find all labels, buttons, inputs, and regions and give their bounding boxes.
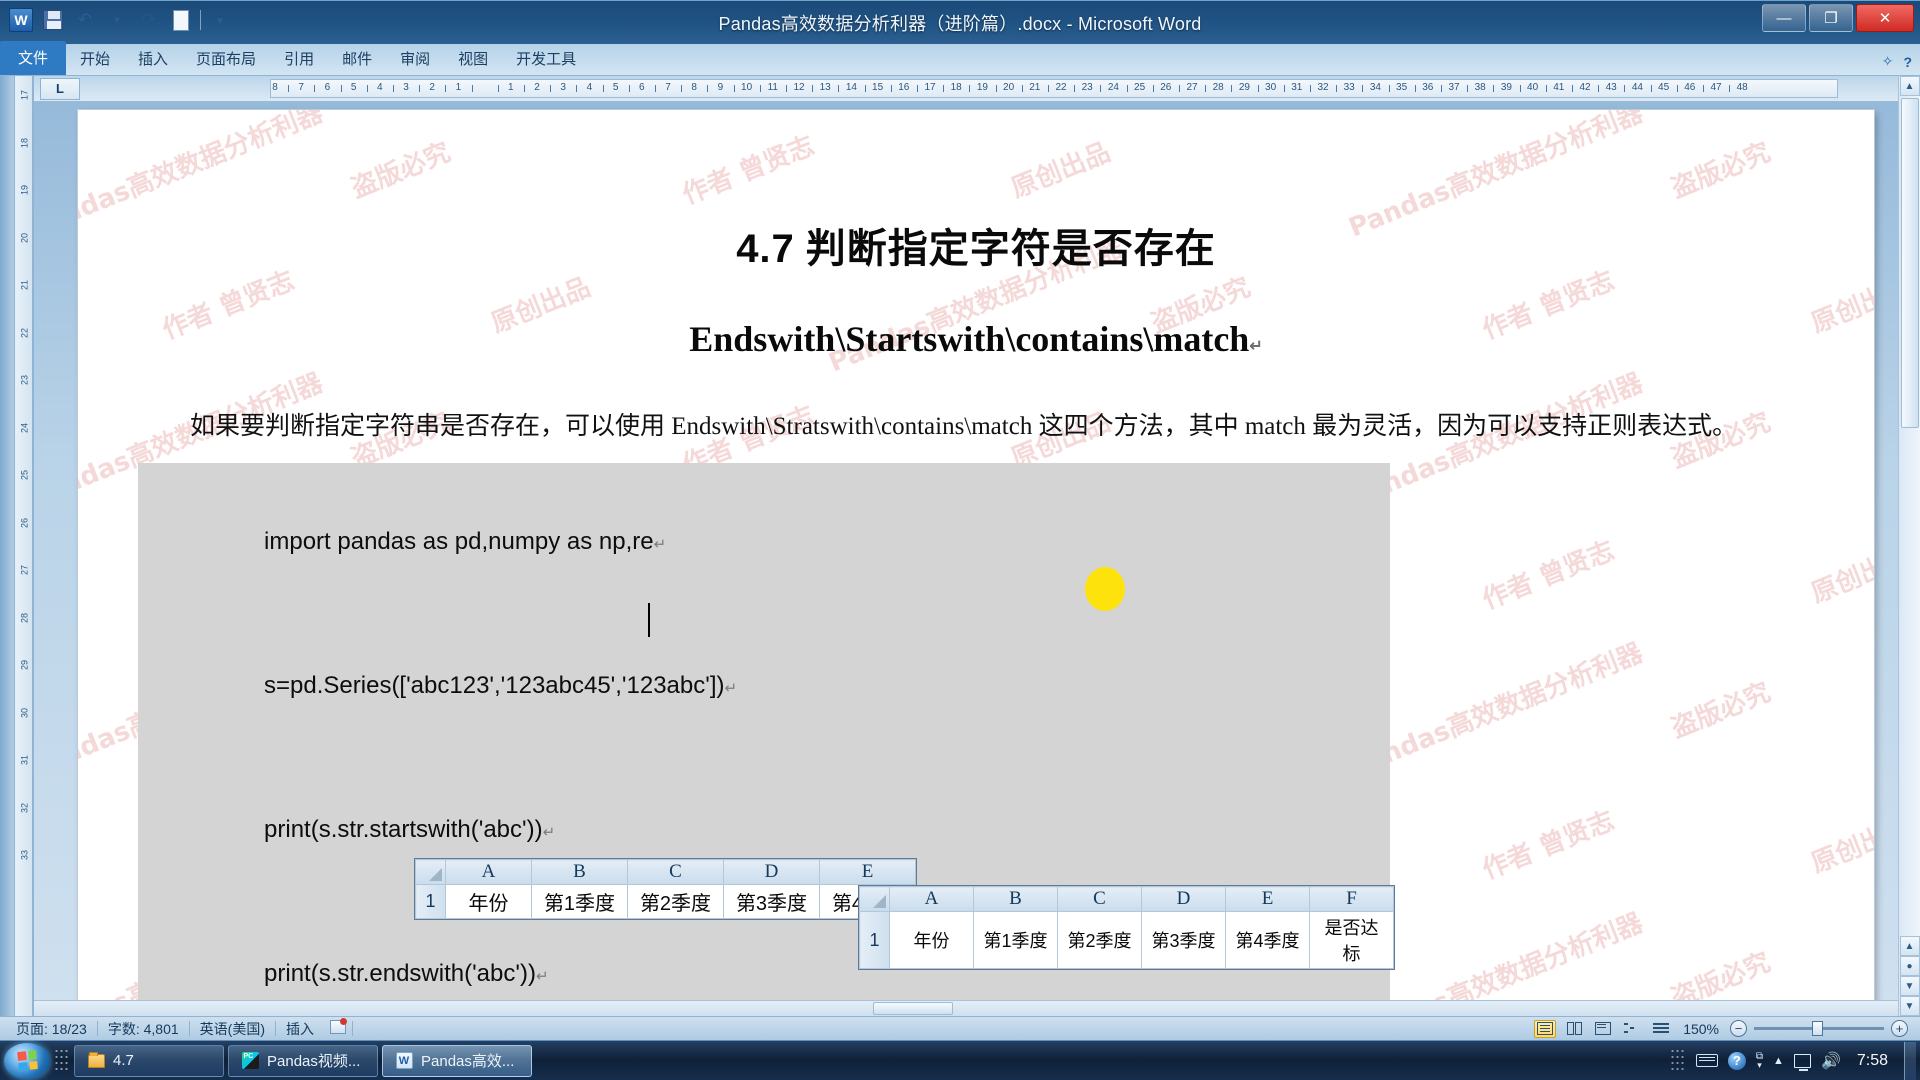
ruler-tick [288, 85, 289, 92]
cell-a1[interactable]: 年份 [890, 912, 974, 969]
cell-a1[interactable]: 年份 [446, 885, 532, 919]
ruler-tick-label: 27 [1186, 82, 1197, 93]
ruler-tick [996, 85, 997, 92]
table-row: 1 年份 第1季度 第2季度 第3季度 第4季度 [416, 885, 916, 919]
ruler-tick-label: 3 [560, 82, 566, 93]
tab-review[interactable]: 审阅 [386, 43, 444, 75]
volume-icon[interactable]: 🔊 [1821, 1051, 1841, 1071]
ruler-tick [812, 85, 813, 92]
help-icon[interactable]: ? [1728, 1052, 1746, 1070]
pilcrow-icon: ↵ [536, 968, 549, 985]
ruler-tick [367, 85, 368, 92]
horizontal-scrollbar[interactable] [34, 1000, 1898, 1016]
ruler-tick-label: 12 [793, 82, 804, 93]
ruler-tick [1231, 85, 1232, 92]
ribbon-tab-bar: 文件 开始 插入 页面布局 引用 邮件 审阅 视图 开发工具 ✧ ? [0, 44, 1920, 76]
ruler-tick [603, 85, 604, 92]
ruler-tick-label: 3 [403, 82, 409, 93]
ruler-tick-label: 6 [639, 82, 645, 93]
scroll-down-icon[interactable]: ▼ [1900, 996, 1920, 1016]
highlight-cursor-dot [1085, 567, 1125, 611]
title-bar: W ↶ ▾ ↷ ▾ Pandas高效数据分析利器（进阶篇）.docx - Mic… [0, 0, 1920, 44]
cell-c1[interactable]: 第2季度 [628, 885, 724, 919]
ruler-tick [1415, 85, 1416, 92]
ruler-tick-label: 4 [377, 82, 383, 93]
system-tray: ? ⧉ ▾ ▲ 🔊 7:58 [1670, 1041, 1920, 1080]
vertical-scrollbar[interactable]: ▲ ▲ ● ▼ ▼ [1898, 76, 1920, 1016]
ruler-tick-label: 32 [1317, 82, 1328, 93]
col-header-a[interactable]: A [890, 887, 974, 912]
table-header-row: A B C D E F [860, 887, 1394, 912]
cell-d1[interactable]: 第3季度 [724, 885, 820, 919]
customize-qat-icon[interactable]: ▾ [207, 7, 233, 33]
previous-page-icon[interactable]: ▲ [1900, 936, 1920, 956]
ruler-tick [472, 85, 473, 92]
ruler-tick-label: 14 [846, 82, 857, 93]
ribbon-right-controls: ✧ ? [1882, 53, 1912, 70]
ruler-tick-label: 42 [1579, 82, 1590, 93]
windows-logo-icon [17, 1050, 38, 1071]
word-logo-glyph: W [9, 8, 33, 32]
ruler-tick-label: 45 [1658, 82, 1669, 93]
horizontal-ruler-strip: 8765432112345678910111213141516171819202… [270, 79, 1838, 98]
keyboard-icon[interactable] [1696, 1054, 1718, 1067]
ruler-tick-label: 38 [1475, 82, 1486, 93]
work-area: 1718192021222324252627282930313233 L 876… [0, 76, 1920, 1016]
heading-text: 判断指定字符是否存在 [806, 226, 1216, 271]
folder-icon [87, 1052, 105, 1070]
ruler-tick-label: 46 [1684, 82, 1695, 93]
ruler-tick [1651, 85, 1652, 92]
word-logo-icon[interactable]: W [8, 7, 34, 33]
restore-button[interactable]: ❐ [1809, 4, 1853, 32]
ruler-tick-label: 27 [20, 561, 30, 580]
qat-divider [200, 10, 201, 30]
ruler-tick-label: 29 [20, 656, 30, 675]
ruler-tick-label: 44 [1632, 82, 1643, 93]
ruler-tick-label: 20 [20, 228, 30, 247]
subheading: Endswith\Startswith\contains\match↵ [138, 318, 1814, 360]
zoom-slider-thumb[interactable] [1812, 1021, 1823, 1036]
ruler-tick-label: 31 [20, 751, 30, 770]
table-header-row: A B C D E [416, 860, 916, 885]
ruler-tick [1389, 85, 1390, 92]
ruler-tick-label: 26 [1160, 82, 1171, 93]
ruler-tick-label: 33 [20, 846, 30, 865]
ruler-tick [1362, 85, 1363, 92]
ruler-tick-label: 24 [20, 418, 30, 437]
zoom-out-button[interactable]: − [1730, 1020, 1747, 1037]
cell-b1[interactable]: 第1季度 [974, 912, 1058, 969]
col-header-d[interactable]: D [724, 860, 820, 885]
ruler-tick [1179, 85, 1180, 92]
ruler-tick [1729, 85, 1730, 92]
col-header-e[interactable]: E [820, 860, 916, 885]
cell-b1[interactable]: 第1季度 [532, 885, 628, 919]
undo-icon[interactable]: ↶ [72, 7, 98, 33]
document-page[interactable]: Pandas高效数据分析利器盗版必究作者 曾贤志原创出品Pandas高效数据分析… [78, 110, 1874, 1000]
ruler-tick-label: 28 [20, 608, 30, 627]
ruler-tick-label: 5 [351, 82, 357, 93]
ruler-tick-label: 33 [1344, 82, 1355, 93]
ruler-tick [734, 85, 735, 92]
ruler-tick-label: 4 [587, 82, 593, 93]
ruler-tick [1205, 85, 1206, 92]
view-outline-icon[interactable] [1621, 1020, 1643, 1038]
ruler-tick [1258, 85, 1259, 92]
ruler-tick [1310, 85, 1311, 92]
word-count[interactable]: 字数: 4,801 [98, 1019, 189, 1039]
ruler-tick [393, 85, 394, 92]
row-header-1[interactable]: 1 [860, 912, 890, 969]
undo-dropdown-icon[interactable]: ▾ [104, 7, 130, 33]
ruler-tick [681, 85, 682, 92]
zoom-in-button[interactable]: + [1891, 1020, 1908, 1037]
ruler-tick-label: 36 [1422, 82, 1433, 93]
col-header-f[interactable]: F [1310, 887, 1394, 912]
ruler-tick-label: 6 [325, 82, 331, 93]
ruler-tick-label: 34 [1370, 82, 1381, 93]
ruler-tick [1598, 85, 1599, 92]
code-line: s=pd.Series(['abc123','123abc45','123abc… [144, 615, 1390, 759]
ruler-tick [1048, 85, 1049, 92]
cell-d1[interactable]: 第3季度 [1142, 912, 1226, 969]
pilcrow-icon: ↵ [543, 824, 556, 841]
ruler-tick [865, 85, 866, 92]
ruler-tick-label: 31 [1291, 82, 1302, 93]
status-bar: 页面: 18/23 字数: 4,801 英语(美国) 插入 [0, 1016, 1920, 1040]
ruler-tick-label: 1 [456, 82, 462, 93]
start-button[interactable] [4, 1043, 50, 1079]
ruler-tick [1074, 85, 1075, 92]
vertical-scroll-thumb[interactable] [1901, 98, 1919, 428]
ruler-tick [1284, 85, 1285, 92]
ruler-tick-label: 21 [20, 276, 30, 295]
ruler-tick-label: 24 [1108, 82, 1119, 93]
tray-grip[interactable] [1670, 1048, 1686, 1074]
ruler-tick [943, 85, 944, 92]
ruler-tick-label: 17 [924, 82, 935, 93]
new-document-icon[interactable] [168, 7, 194, 33]
tab-file[interactable]: 文件 [0, 41, 66, 75]
ruler-tick [419, 85, 420, 92]
table-left: A B C D E 1 年份 [415, 859, 916, 919]
ruler-tick-label: 9 [718, 82, 724, 93]
view-full-screen-reading-icon[interactable] [1563, 1020, 1585, 1038]
ruler-tick-label: 23 [1082, 82, 1093, 93]
close-button[interactable]: ✕ [1856, 4, 1914, 32]
ruler-tick-label: 35 [1396, 82, 1407, 93]
ruler-tick-label: 5 [613, 82, 619, 93]
ruler-tick-label: 8 [691, 82, 697, 93]
col-header-d[interactable]: D [1142, 887, 1226, 912]
spreadsheet-image-left[interactable]: A B C D E 1 年份 [414, 858, 917, 920]
vertical-ruler-strip: 1718192021222324252627282930313233 [14, 76, 33, 1016]
quick-access-toolbar: W ↶ ▾ ↷ ▾ [8, 7, 233, 33]
overflow-up-icon[interactable]: ▲ [1773, 1055, 1784, 1067]
page-indicator[interactable]: 页面: 18/23 [6, 1019, 97, 1039]
status-divider [352, 1021, 353, 1036]
ruler-tick [576, 85, 577, 92]
tab-mailings[interactable]: 邮件 [328, 43, 386, 75]
ruler-tick [1441, 85, 1442, 92]
col-header-c[interactable]: C [1058, 887, 1142, 912]
vertical-ruler[interactable]: 1718192021222324252627282930313233 [0, 76, 34, 1016]
ruler-tick [655, 85, 656, 92]
word-icon: W [395, 1052, 413, 1070]
ruler-tick-label: 22 [1055, 82, 1066, 93]
ruler-tick [1467, 85, 1468, 92]
help-icon[interactable]: ? [1903, 54, 1912, 70]
ruler-tick [1677, 85, 1678, 92]
ruler-tick-label: 18 [951, 82, 962, 93]
ruler-tick-label: 41 [1553, 82, 1564, 93]
overflow-down-icon[interactable]: ▾ [1757, 1061, 1762, 1070]
taskbar-item-label: 4.7 [113, 1052, 134, 1069]
ruler-tick [445, 85, 446, 92]
ruler-tick [341, 85, 342, 92]
tab-home[interactable]: 开始 [66, 43, 124, 75]
paragraph-mark: ↵ [1249, 338, 1262, 355]
ruler-tick-label: 26 [20, 513, 30, 532]
code-text: s=pd.Series(['abc123','123abc45','123abc… [264, 672, 724, 699]
ruler-tick [498, 85, 499, 92]
taskbar-item-folder[interactable]: 4.7 [74, 1045, 224, 1077]
subheading-text: Endswith\Startswith\contains\match [689, 319, 1249, 359]
ruler-tick [550, 85, 551, 92]
col-header-a[interactable]: A [446, 860, 532, 885]
tab-view[interactable]: 视图 [444, 43, 502, 75]
ruler-tick [1336, 85, 1337, 92]
ruler-tick-label: 10 [741, 82, 752, 93]
ruler-tick-label: 30 [20, 703, 30, 722]
col-header-b[interactable]: B [532, 860, 628, 885]
ruler-tick-label: 19 [977, 82, 988, 93]
ruler-tick-label: 23 [20, 371, 30, 390]
ruler-tick-label: 21 [1029, 82, 1040, 93]
pilcrow-icon: ↵ [725, 680, 738, 697]
spreadsheet-image-right[interactable]: A B C D E F 1 [858, 885, 1395, 970]
horizontal-ruler[interactable]: L 87654321123456789101112131415161718192… [34, 76, 1898, 102]
code-text: print(s.str.endswith('abc')) [264, 960, 536, 987]
pilcrow-icon: ↵ [654, 536, 667, 553]
tab-insert[interactable]: 插入 [124, 43, 182, 75]
ruler-tick [1153, 85, 1154, 92]
ruler-tick [707, 85, 708, 92]
clock[interactable]: 7:58 [1851, 1052, 1894, 1070]
document-content: 4.7 判断指定字符是否存在 Endswith\Startswith\conta… [138, 216, 1814, 1000]
document-canvas[interactable]: Pandas高效数据分析利器盗版必究作者 曾贤志原创出品Pandas高效数据分析… [34, 102, 1898, 1000]
ruler-tick-label: 22 [20, 323, 30, 342]
zoom-slider[interactable] [1754, 1027, 1884, 1030]
ruler-tick [891, 85, 892, 92]
status-right-group: 150% − + [1534, 1020, 1914, 1038]
ruler-tick [838, 85, 839, 92]
taskbar-item-label: Pandas视频... [267, 1050, 360, 1071]
text-caret [648, 603, 650, 637]
ruler-tick-label: 7 [298, 82, 304, 93]
ruler-tick [760, 85, 761, 92]
row-header-1[interactable]: 1 [416, 885, 446, 919]
ruler-tick-label: 7 [665, 82, 671, 93]
code-text: import pandas as pd,numpy as np,re [264, 528, 654, 555]
col-header-c[interactable]: C [628, 860, 724, 885]
ruler-tick-label: 19 [20, 181, 30, 200]
ruler-tick-label: 18 [20, 133, 30, 152]
ruler-tick [1624, 85, 1625, 92]
language-indicator[interactable]: 英语(美国) [190, 1019, 275, 1039]
ruler-tick [629, 85, 630, 92]
document-column: L 87654321123456789101112131415161718192… [34, 76, 1898, 1016]
ruler-tick-label: 48 [1737, 82, 1748, 93]
taskbar-item-pycharm[interactable]: Pandas视频... [228, 1045, 378, 1077]
ruler-tick-label: 25 [20, 466, 30, 485]
next-page-icon[interactable]: ▼ [1900, 976, 1920, 996]
ruler-tick-label: 43 [1606, 82, 1617, 93]
ruler-tick [1546, 85, 1547, 92]
pycharm-icon [241, 1052, 259, 1070]
horizontal-scroll-thumb[interactable] [873, 1002, 953, 1015]
taskbar-item-label: Pandas高效... [421, 1050, 514, 1071]
word-application-window: W ↶ ▾ ↷ ▾ Pandas高效数据分析利器（进阶篇）.docx - Mic… [0, 0, 1920, 1080]
page-title: 4.7 判断指定字符是否存在 [138, 216, 1814, 274]
tab-stop-selector[interactable]: L [40, 78, 80, 100]
save-icon[interactable] [40, 7, 66, 33]
ruler-tick [1703, 85, 1704, 92]
ruler-tick [524, 85, 525, 92]
ruler-tick [917, 85, 918, 92]
ruler-tick [1493, 85, 1494, 92]
ruler-tick-label: 32 [20, 798, 30, 817]
tab-references[interactable]: 引用 [270, 43, 328, 75]
window-title: Pandas高效数据分析利器（进阶篇）.docx - Microsoft Wor… [0, 10, 1920, 36]
ruler-tick-label: 8 [272, 82, 278, 93]
select-all-corner[interactable] [416, 860, 446, 885]
ruler-tick-label: 30 [1265, 82, 1276, 93]
ruler-tick [1100, 85, 1101, 92]
col-header-e[interactable]: E [1226, 887, 1310, 912]
window-controls: — ❐ ✕ [1762, 4, 1914, 32]
zoom-level[interactable]: 150% [1679, 1021, 1723, 1037]
ruler-tick [314, 85, 315, 92]
ruler-tick-label: 16 [898, 82, 909, 93]
ruler-tick [786, 85, 787, 92]
ruler-tick-label: 15 [872, 82, 883, 93]
ruler-tick [1572, 85, 1573, 92]
ruler-tick [1127, 85, 1128, 92]
ruler-tick-label: 47 [1710, 82, 1721, 93]
minimize-button[interactable]: — [1762, 4, 1806, 32]
ruler-tick-label: 37 [1448, 82, 1459, 93]
view-web-layout-icon[interactable] [1592, 1020, 1614, 1038]
network-icon[interactable] [1794, 1054, 1811, 1068]
intro-paragraph: 如果要判断指定字符串是否存在，可以使用 Endswith\Stratswith\… [138, 408, 1814, 447]
tab-page-layout[interactable]: 页面布局 [182, 43, 270, 75]
ruler-tick-label: 28 [1213, 82, 1224, 93]
heading-number: 4.7 [736, 227, 795, 271]
table-row: 1 年份 第1季度 第2季度 第3季度 第4季度 是否达标 [860, 912, 1394, 969]
ruler-tick-label: 2 [429, 82, 435, 93]
ruler-tick-label: 13 [820, 82, 831, 93]
cell-c1[interactable]: 第2季度 [1058, 912, 1142, 969]
view-print-layout-icon[interactable] [1534, 1020, 1556, 1038]
cell-e1[interactable]: 第4季度 [1226, 912, 1310, 969]
show-desktop-button[interactable] [1904, 1042, 1916, 1080]
scroll-up-icon[interactable]: ▲ [1900, 76, 1920, 96]
ruler-tick-label: 40 [1527, 82, 1538, 93]
ruler-tick-label: 39 [1501, 82, 1512, 93]
ruler-tick [969, 85, 970, 92]
ruler-tick-label: 20 [1003, 82, 1014, 93]
code-text: print(s.str.startswith('abc')) [264, 816, 543, 843]
view-draft-icon[interactable] [1650, 1020, 1672, 1038]
tab-developer[interactable]: 开发工具 [502, 43, 590, 75]
taskbar: 4.7 Pandas视频... W Pandas高效... ? ⧉ ▾ ▲ 🔊 … [0, 1040, 1920, 1080]
redo-icon[interactable]: ↷ [136, 7, 162, 33]
table-right: A B C D E F 1 [859, 886, 1394, 969]
select-all-corner[interactable] [860, 887, 890, 912]
proofing-errors-icon[interactable] [324, 1020, 352, 1037]
ruler-tick [1022, 85, 1023, 92]
insert-mode[interactable]: 插入 [276, 1019, 324, 1039]
code-line: import pandas as pd,numpy as np,re↵ [144, 471, 1390, 615]
taskbar-item-word[interactable]: W Pandas高效... [382, 1045, 532, 1077]
browse-object-icon[interactable]: ● [1900, 956, 1920, 976]
minimize-ribbon-icon[interactable]: ✧ [1882, 53, 1894, 70]
col-header-b[interactable]: B [974, 887, 1058, 912]
ruler-tick-label: 29 [1239, 82, 1250, 93]
ruler-tick-label: 11 [768, 82, 778, 93]
cell-f1[interactable]: 是否达标 [1310, 912, 1394, 969]
ruler-tick-label: 2 [534, 82, 540, 93]
taskbar-grip[interactable] [54, 1048, 70, 1074]
ruler-tick-label: 25 [1134, 82, 1145, 93]
ruler-tick-label: 1 [508, 82, 514, 93]
ruler-tick [1520, 85, 1521, 92]
ruler-tick-label: 17 [20, 86, 30, 105]
